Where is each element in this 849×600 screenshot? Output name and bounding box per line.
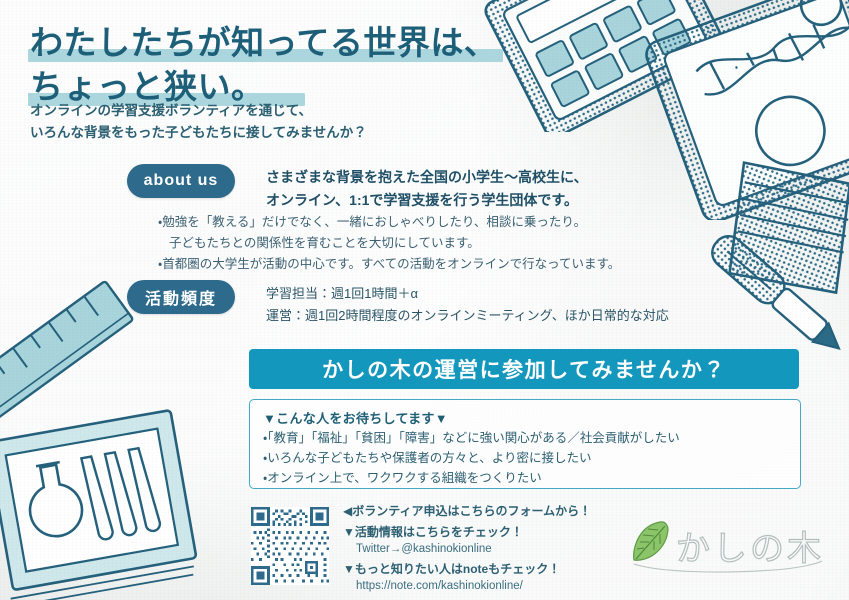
card-title: ▼こんな人をお待ちしてます▼ [263, 408, 448, 427]
activity-frequency-text: 学習担当：週1回1時間＋α 運営：週1回2時間程度のオンラインミーティング、ほか… [266, 283, 669, 328]
twitter-label: ▼活動情報はこちらをチェック！ [343, 525, 523, 539]
ruler-illustration [0, 270, 144, 440]
poster-canvas: わたしたちが知ってる世界は、 ちょっと狭い。 オンラインの学習支援ボランティアを… [0, 0, 849, 600]
kashinoki-logo: かしの木 [624, 516, 830, 578]
note-label: ▼もっと知りたい人はnoteもチェック！ [343, 562, 560, 576]
contact-info: ◀ボランティア申込はこちらのフォームから！ ▼活動情報はこちらをチェック！ Tw… [343, 503, 591, 599]
activity-frequency-pill: 活動頻度 [127, 280, 235, 314]
about-note-item: ・勉強を「教える」だけでなく、一緒におしゃべりしたり、相談に乗ったり。 子どもた… [158, 212, 620, 254]
card-list-item: ・「教育」「福祉」「貧困」「障害」などに強い関心がある／社会貢献がしたい [263, 429, 680, 449]
call-to-action-banner: かしの木の運営に参加してみませんか？ [249, 349, 799, 389]
headline-line-2: ちょっと狭い。 [30, 66, 265, 108]
twitter-handle[interactable]: Twitter→@kashinokionline [343, 541, 591, 557]
leaf-icon [634, 522, 668, 560]
book-illustration [700, 150, 849, 310]
note-url[interactable]: https://note.com/kashinokionline/ [343, 578, 591, 594]
frequency-line-0: 学習担当：週1回1時間＋α [266, 283, 669, 305]
flask-illustration [0, 405, 201, 600]
target-audience-card: ▼こんな人をお待ちしてます▼ ・「教育」「福祉」「貧困」「障害」などに強い関心が… [249, 399, 801, 489]
headline-block: わたしたちが知ってる世界は、 ちょっと狭い。 [30, 22, 500, 108]
about-lead-line-1: さまざまな背景を抱えた全国の小学生〜高校生に、 [266, 166, 588, 189]
card-list: ・「教育」「福祉」「貧困」「障害」などに強い関心がある／社会貢献がしたい ・いろ… [263, 429, 680, 488]
logo-text: かしの木 [676, 530, 824, 568]
about-note-0-sub: 子どもたちとの関係性を育むことを大切にしています。 [158, 233, 620, 254]
contact-row: ◀ボランティア申込はこちらのフォームから！ [343, 503, 591, 520]
subheadline-line-2: いろんな背景をもった子どもたちに接してみませんか？ [30, 122, 367, 144]
about-note-item: ・首都圏の大学生が活動の中心です。すべての活動をオンラインで行なっています。 [158, 254, 620, 275]
calculator-illustration [470, 0, 750, 132]
contact-row: ▼活動情報はこちらをチェック！ Twitter→@kashinokionline [343, 524, 591, 557]
subheadline: オンラインの学習支援ボランティアを通じて、 いろんな背景をもった子どもたちに接し… [30, 100, 367, 144]
about-note-1-main: ・首都圏の大学生が活動の中心です。すべての活動をオンラインで行なっています。 [158, 257, 620, 271]
qr-code[interactable] [251, 506, 329, 586]
about-notes-list: ・勉強を「教える」だけでなく、一緒におしゃべりしたり、相談に乗ったり。 子どもた… [158, 212, 620, 274]
about-us-pill: about us [127, 164, 235, 198]
dna-tablet-illustration [640, 0, 849, 220]
card-list-item: ・オンライン上で、ワクワクする組織をつくりたい [263, 469, 680, 489]
headline-line-1-text: わたしたちが知ってる世界は、 [30, 24, 497, 61]
contact-form-label: ◀ボランティア申込はこちらのフォームから！ [343, 504, 591, 518]
headline-line-1: わたしたちが知ってる世界は、 [30, 22, 497, 64]
contact-row: ▼もっと知りたい人はnoteもチェック！ https://note.com/ka… [343, 561, 591, 594]
about-note-0-main: ・勉強を「教える」だけでなく、一緒におしゃべりしたり、相談に乗ったり。 [158, 215, 586, 229]
headline-line-2-text: ちょっと狭い。 [30, 68, 265, 105]
about-lead-line-2: オンライン、1:1で学習支援を行う学生団体です。 [266, 189, 588, 212]
card-list-item: ・いろんな子どもたちや保護者の方々と、より密に接したい [263, 449, 680, 469]
frequency-line-1: 運営：週1回2時間程度のオンラインミーティング、ほか日常的な対応 [266, 305, 669, 327]
about-lead-text: さまざまな背景を抱えた全国の小学生〜高校生に、 オンライン、1:1で学習支援を行… [266, 166, 588, 212]
